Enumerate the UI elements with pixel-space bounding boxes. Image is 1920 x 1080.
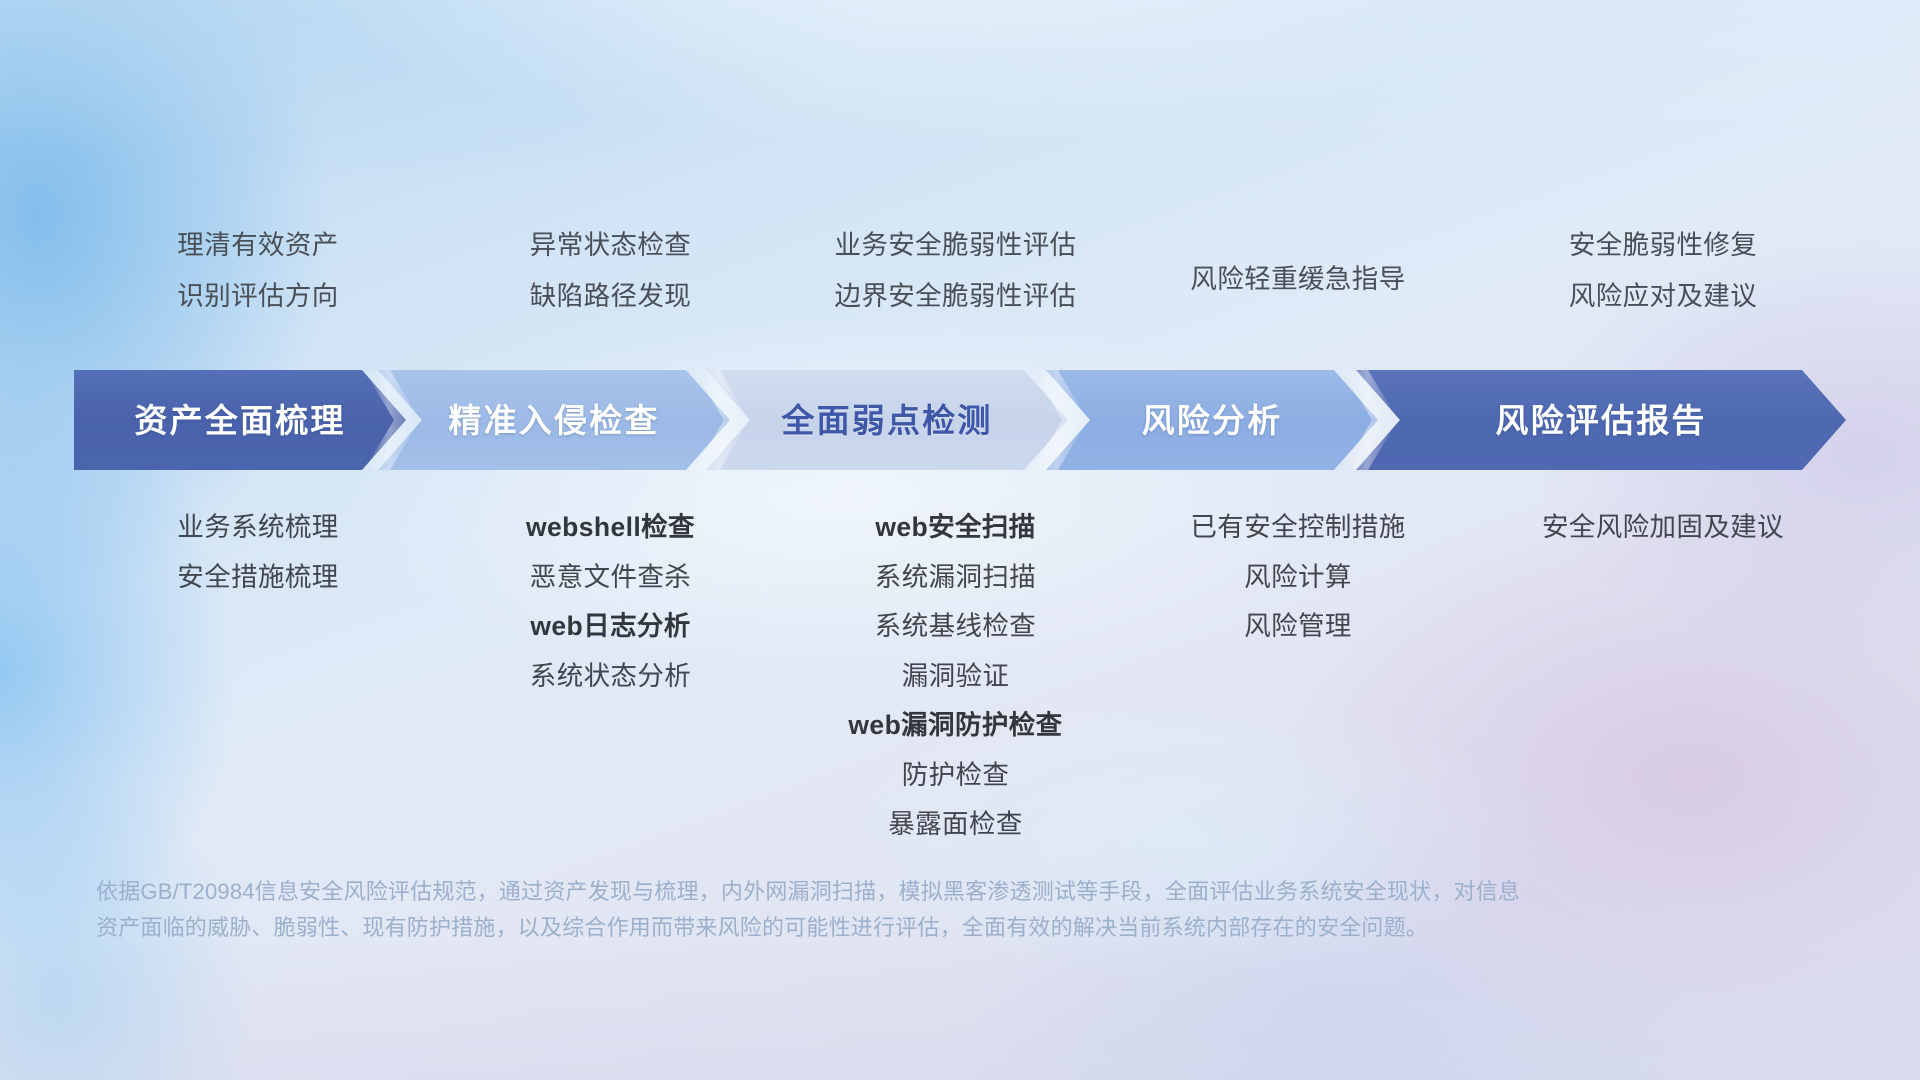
bottom-label: web安全扫描 xyxy=(875,514,1035,541)
top-labels-row: 理清有效资产 识别评估方向 异常状态检查 缺陷路径发现 业务安全脆弱性评估 边界… xyxy=(78,232,1858,333)
chevron-label: 精准入侵检查 xyxy=(448,404,659,437)
bottom-label: webshell检查 xyxy=(526,514,695,541)
bottom-label: 风险管理 xyxy=(1244,613,1352,640)
bottom-column-risk-report: 安全风险加固及建议 xyxy=(1468,514,1858,564)
bottom-label: 恶意文件查杀 xyxy=(530,564,691,591)
top-label: 风险应对及建议 xyxy=(1569,283,1757,310)
chevron-stage-intrusion-check[interactable]: 精准入侵检查 xyxy=(378,370,730,470)
bottom-column-asset-inventory: 业务系统梳理 安全措施梳理 xyxy=(78,514,438,613)
top-column-risk-analysis: 风险轻重缓急指导 xyxy=(1128,232,1468,317)
top-column-asset-inventory: 理清有效资产 识别评估方向 xyxy=(78,232,438,333)
chevron-label: 风险分析 xyxy=(1142,404,1283,437)
slide-canvas: 理清有效资产 识别评估方向 异常状态检查 缺陷路径发现 业务安全脆弱性评估 边界… xyxy=(0,0,1920,1080)
top-label: 缺陷路径发现 xyxy=(530,283,691,310)
footer-line: 资产面临的威胁、脆弱性、现有防护措施，以及综合作用而带来风险的可能性进行评估，全… xyxy=(96,910,1616,946)
chevron-stage-risk-analysis[interactable]: 风险分析 xyxy=(1046,370,1378,470)
bottom-label: 漏洞验证 xyxy=(902,663,1010,690)
top-column-weakness-detection: 业务安全脆弱性评估 边界安全脆弱性评估 xyxy=(783,232,1128,333)
bottom-label: web日志分析 xyxy=(530,613,690,640)
bottom-column-intrusion-check: webshell检查 恶意文件查杀 web日志分析 系统状态分析 xyxy=(438,514,783,712)
bottom-column-risk-analysis: 已有安全控制措施 风险计算 风险管理 xyxy=(1128,514,1468,663)
chevron-label: 风险评估报告 xyxy=(1495,404,1706,437)
top-column-risk-report: 安全脆弱性修复 风险应对及建议 xyxy=(1468,232,1858,333)
bottom-label: 已有安全控制措施 xyxy=(1190,514,1405,541)
bottom-label: 业务系统梳理 xyxy=(177,514,338,541)
bottom-column-weakness-detection: web安全扫描 系统漏洞扫描 系统基线检查 漏洞验证 web漏洞防护检查 防护检… xyxy=(783,514,1128,861)
chevron-stage-risk-report[interactable]: 风险评估报告 xyxy=(1356,370,1846,470)
chevron-stage-asset-inventory[interactable]: 资产全面梳理 xyxy=(74,370,406,470)
footer-line: 依据GB/T20984信息安全风险评估规范，通过资产发现与梳理，内外网漏洞扫描，… xyxy=(96,874,1616,910)
top-label: 安全脆弱性修复 xyxy=(1569,232,1757,259)
bottom-label: 安全风险加固及建议 xyxy=(1542,514,1784,541)
bottom-label: 暴露面检查 xyxy=(888,811,1023,838)
chevron-stage-weakness-detection[interactable]: 全面弱点检测 xyxy=(706,370,1068,470)
bottom-label: 防护检查 xyxy=(902,762,1010,789)
bottom-label: 安全措施梳理 xyxy=(177,564,338,591)
bottom-label: web漏洞防护检查 xyxy=(848,712,1062,739)
chevron-label: 资产全面梳理 xyxy=(134,404,345,437)
chevron-label: 全面弱点检测 xyxy=(781,404,992,437)
footer-description: 依据GB/T20984信息安全风险评估规范，通过资产发现与梳理，内外网漏洞扫描，… xyxy=(96,874,1616,946)
bottom-label: 系统漏洞扫描 xyxy=(875,564,1036,591)
bottom-label: 风险计算 xyxy=(1244,564,1352,591)
top-label: 业务安全脆弱性评估 xyxy=(834,232,1076,259)
top-label: 异常状态检查 xyxy=(530,232,691,259)
bottom-labels-row: 业务系统梳理 安全措施梳理 webshell检查 恶意文件查杀 web日志分析 … xyxy=(78,514,1858,861)
bottom-label: 系统基线检查 xyxy=(875,613,1036,640)
top-label: 理清有效资产 xyxy=(177,232,338,259)
top-label: 边界安全脆弱性评估 xyxy=(834,283,1076,310)
top-column-intrusion-check: 异常状态检查 缺陷路径发现 xyxy=(438,232,783,333)
process-chevron-banner: 资产全面梳理 精准入侵检查 全面弱点检测 风险分析 风险评估报告 xyxy=(74,370,1846,470)
top-label: 风险轻重缓急指导 xyxy=(1190,266,1405,293)
top-label: 识别评估方向 xyxy=(177,283,338,310)
bottom-label: 系统状态分析 xyxy=(530,663,691,690)
